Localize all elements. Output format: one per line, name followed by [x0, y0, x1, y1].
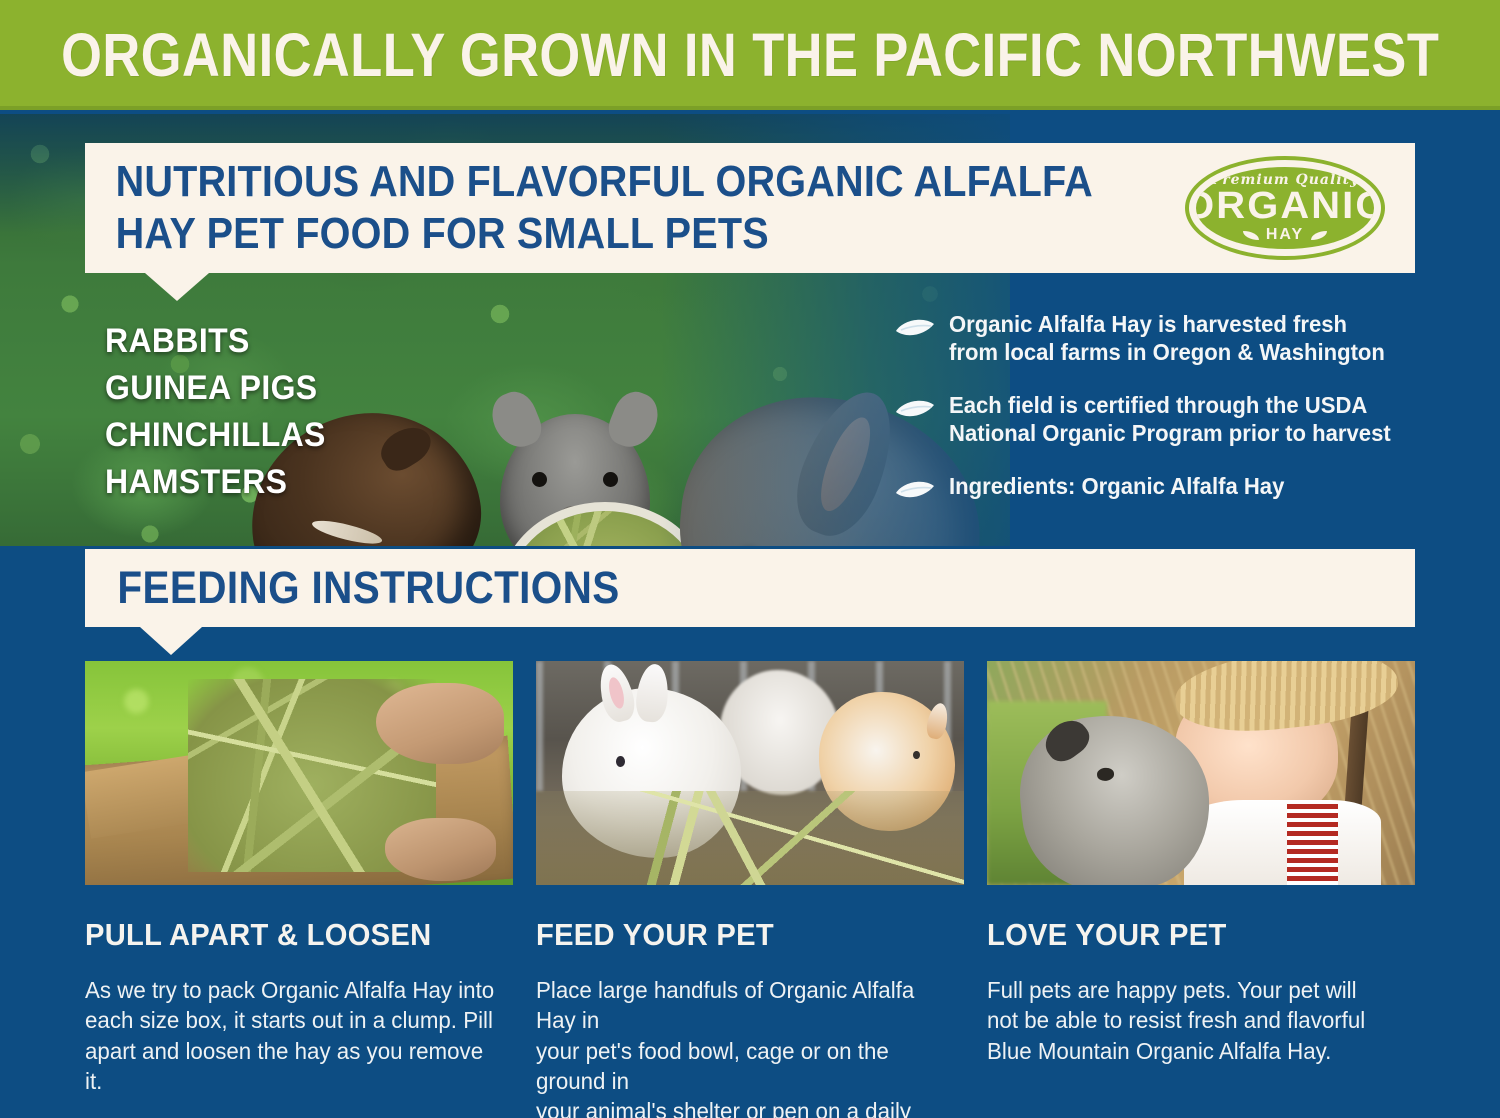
pet-list-item: RABBITS [105, 318, 326, 365]
badge-organic-text: ORGANIC [1196, 187, 1374, 225]
pet-list-item: CHINCHILLAS [105, 412, 326, 459]
feeding-steps: PULL APART & LOOSEN As we try to pack Or… [85, 661, 1415, 1118]
feature-bullet-list: Organic Alfalfa Hay is harvested fresh f… [895, 310, 1425, 527]
step-title: LOVE YOUR PET [987, 917, 1389, 953]
hand-top [376, 683, 504, 764]
title-panel: NUTRITIOUS AND FLAVORFUL ORGANIC ALFALFA… [85, 143, 1415, 273]
badge-hay-text: HAY [1266, 226, 1304, 244]
leaf-icon [895, 480, 935, 502]
leaf-icon [1311, 231, 1327, 240]
leaf-icon [895, 399, 935, 421]
leaf-icon [1243, 231, 1259, 240]
pet-list-item: GUINEA PIGS [105, 365, 326, 412]
guinea-pig-stripe [310, 516, 383, 546]
pet-type-list: RABBITS GUINEA PIGS CHINCHILLAS HAMSTERS [105, 318, 340, 506]
pet-list-item: HAMSTERS [105, 459, 326, 506]
feeding-step-card: FEED YOUR PET Place large handfuls of Or… [536, 661, 964, 1118]
chinchilla-eye-right [603, 472, 618, 487]
step-photo-pull-apart [85, 661, 513, 885]
feeding-panel-notch [140, 627, 202, 655]
feeding-instructions-heading: FEEDING INSTRUCTIONS [85, 562, 620, 614]
step-title: FEED YOUR PET [536, 917, 938, 953]
hand-bottom [385, 818, 496, 881]
bunnies-photo [536, 661, 964, 885]
chinchilla-eye-left [532, 472, 547, 487]
bunny-eye [913, 751, 920, 759]
feeding-instructions-panel: FEEDING INSTRUCTIONS [85, 549, 1415, 627]
guinea-pig-ear [374, 419, 437, 477]
feature-bullet-item: Ingredients: Organic Alfalfa Hay [895, 472, 1425, 502]
feature-bullet-item: Each field is certified through the USDA… [895, 391, 1425, 447]
hay-box-photo [85, 661, 513, 885]
top-banner: ORGANICALLY GROWN IN THE PACIFIC NORTHWE… [0, 0, 1500, 110]
feeding-step-card: LOVE YOUR PET Full pets are happy pets. … [987, 661, 1415, 1118]
top-banner-text: ORGANICALLY GROWN IN THE PACIFIC NORTHWE… [61, 25, 1439, 86]
goat-eye [1097, 767, 1115, 781]
step-body: As we try to pack Organic Alfalfa Hay in… [85, 975, 500, 1096]
feature-bullet-text: Organic Alfalfa Hay is harvested fresh f… [949, 310, 1385, 366]
feature-bullet-item: Organic Alfalfa Hay is harvested fresh f… [895, 310, 1425, 366]
shirt-embroidery [1287, 804, 1338, 885]
badge-hay-row: HAY [1243, 226, 1327, 244]
feeding-step-card: PULL APART & LOOSEN As we try to pack Or… [85, 661, 513, 1118]
bunny-eye [616, 756, 625, 767]
step-body: Place large handfuls of Organic Alfalfa … [536, 975, 951, 1118]
organic-hay-badge-inner: Premium Quality ORGANIC HAY [1196, 167, 1374, 249]
feature-bullet-text: Each field is certified through the USDA… [949, 391, 1391, 447]
feature-bullet-text: Ingredients: Organic Alfalfa Hay [949, 472, 1284, 500]
boy-and-goat-photo [987, 661, 1415, 885]
title-panel-notch [145, 273, 209, 301]
leaf-icon [895, 318, 935, 340]
infographic-page: ORGANICALLY GROWN IN THE PACIFIC NORTHWE… [0, 0, 1500, 1118]
step-title: PULL APART & LOOSEN [85, 917, 487, 953]
step-photo-love-your-pet [987, 661, 1415, 885]
organic-hay-badge: Premium Quality ORGANIC HAY [1185, 156, 1385, 260]
hay-bedding [536, 791, 964, 885]
step-body: Full pets are happy pets. Your pet will … [987, 975, 1402, 1066]
page-title: NUTRITIOUS AND FLAVORFUL ORGANIC ALFALFA… [85, 156, 1093, 260]
boy-shirt [1184, 800, 1381, 885]
step-photo-feed-your-pet [536, 661, 964, 885]
